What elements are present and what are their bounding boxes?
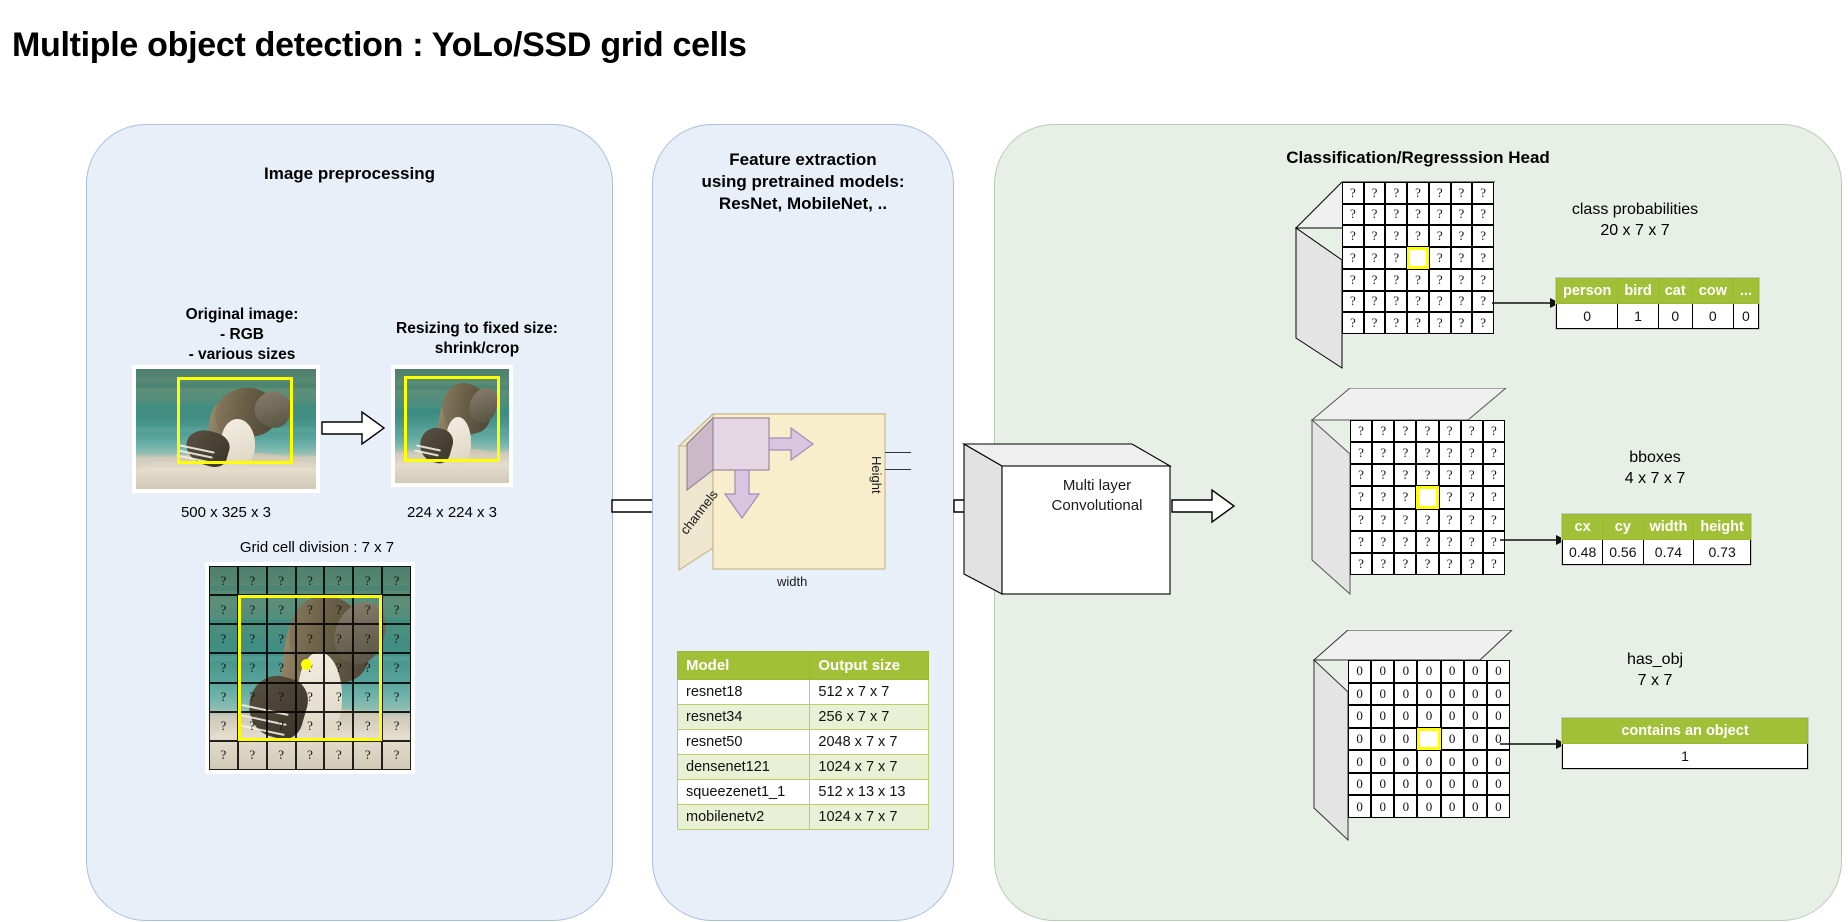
grid-cell: 0 [1371, 773, 1394, 796]
grid-cell: ? [1439, 486, 1461, 508]
grid-cell: 0 [1348, 660, 1371, 683]
center-point-marker [301, 659, 312, 670]
grid-cell-highlighted: ? [1407, 247, 1429, 269]
grid-cell: ? [382, 741, 411, 770]
table-row: resnet502048 x 7 x 7 [678, 730, 929, 755]
bounding-box-resized [404, 376, 500, 463]
grid-cell-highlighted: 0 [1417, 728, 1440, 751]
grid-cell: ? [1461, 442, 1483, 464]
grid-cell: ? [209, 653, 238, 682]
cell-model-name: resnet18 [678, 680, 810, 705]
grid-cell: 0 [1441, 773, 1464, 796]
grid-cell: ? [1439, 420, 1461, 442]
grid-cell: 0 [1441, 728, 1464, 751]
grid-cell: ? [1385, 204, 1407, 226]
grid-cell: ? [1385, 291, 1407, 313]
original-image-caption: Original image: - RGB - various sizes [137, 305, 347, 365]
grid-cell: ? [296, 566, 325, 595]
feature-map-cube: Height width channels [673, 398, 913, 608]
column-header: cx [1563, 515, 1603, 540]
grid-cell: 0 [1441, 750, 1464, 773]
grid-cell: ? [238, 741, 267, 770]
panel-title-preprocessing: Image preprocessing [87, 163, 612, 185]
grid-cell: 0 [1487, 750, 1510, 773]
grid-cell: ? [382, 566, 411, 595]
grid-cell: ? [209, 624, 238, 653]
grid-cell: ? [1461, 464, 1483, 486]
value-cell: 0.74 [1643, 540, 1694, 565]
table-row: densenet1211024 x 7 x 7 [678, 755, 929, 780]
arrow-resize [322, 410, 386, 446]
grid-cell: ? [1416, 464, 1438, 486]
grid-cell: ? [1451, 269, 1473, 291]
grid-cell: 0 [1371, 705, 1394, 728]
cell-output-size: 256 x 7 x 7 [810, 705, 929, 730]
grid-cell: ? [1372, 509, 1394, 531]
cube-label-width: width [777, 574, 807, 589]
grid-cell: ? [1439, 531, 1461, 553]
grid-cell: ? [1429, 225, 1451, 247]
cube-label-height: Height [869, 456, 884, 494]
grid-cell: ? [1385, 269, 1407, 291]
panel-title-head: Classification/Regresssion Head [995, 147, 1841, 169]
class-probabilities-table: personbirdcatcow... 01000 [1556, 278, 1759, 329]
grid-cell: ? [1461, 486, 1483, 508]
grid-cell: 0 [1464, 683, 1487, 706]
grid-cell: 0 [1394, 773, 1417, 796]
grid-cell: ? [1372, 420, 1394, 442]
grid-cell: ? [1342, 182, 1364, 204]
table-header-row: personbirdcatcow... [1557, 279, 1759, 304]
grid-cell: 0 [1487, 705, 1510, 728]
grid-cell: ? [382, 595, 411, 624]
table-row: resnet34256 x 7 x 7 [678, 705, 929, 730]
grid-cell: ? [1461, 509, 1483, 531]
grid-cell: 0 [1371, 728, 1394, 751]
grid-cell: ? [1350, 420, 1372, 442]
grid-cell: ? [324, 741, 353, 770]
table-value-row: 1 [1563, 744, 1808, 769]
grid-cell: 0 [1348, 705, 1371, 728]
grid-cell: ? [1429, 291, 1451, 313]
grid-cell: ? [382, 712, 411, 741]
grid-cell: 0 [1348, 773, 1371, 796]
grid-cell: 0 [1464, 750, 1487, 773]
original-image [132, 365, 320, 493]
grid-cell: ? [1350, 531, 1372, 553]
grid-cell: 0 [1417, 795, 1440, 818]
grid-cell: ? [1472, 247, 1494, 269]
grid-cell: 0 [1417, 660, 1440, 683]
grid-cell: ? [1385, 182, 1407, 204]
label-class-probabilities: class probabilities 20 x 7 x 7 [1520, 200, 1750, 242]
grid-cell: ? [1483, 442, 1505, 464]
model-output-size-table: Model Output size resnet18512 x 7 x 7res… [677, 651, 929, 830]
grid-cell: 0 [1394, 750, 1417, 773]
grid-division-caption: Grid cell division : 7 x 7 [197, 538, 437, 558]
grid-cell: ? [1416, 442, 1438, 464]
table-row: squeezenet1_1512 x 13 x 13 [678, 780, 929, 805]
cell-model-name: densenet121 [678, 755, 810, 780]
panel-title-feature: Feature extraction using pretrained mode… [653, 149, 953, 214]
grid-cell: ? [1451, 204, 1473, 226]
value-cell: 0 [1692, 304, 1733, 329]
grid-cell: ? [296, 741, 325, 770]
grid-cell: ? [1483, 464, 1505, 486]
grid-cell: 0 [1441, 683, 1464, 706]
grid-cell: ? [1472, 204, 1494, 226]
original-size-caption: 500 x 325 x 3 [132, 503, 320, 523]
grid-cell: ? [1483, 553, 1505, 575]
grid-cell: 0 [1394, 660, 1417, 683]
grid-cell: ? [1372, 531, 1394, 553]
column-header: cat [1658, 279, 1692, 304]
grid-cell: ? [1350, 509, 1372, 531]
table-row: resnet18512 x 7 x 7 [678, 680, 929, 705]
grid-cell: ? [1342, 269, 1364, 291]
page-title: Multiple object detection : YoLo/SSD gri… [12, 26, 747, 65]
grid-cell: ? [1385, 247, 1407, 269]
grid-cell: ? [1416, 531, 1438, 553]
grid-cell: ? [1350, 464, 1372, 486]
height-tick-marker [885, 452, 911, 470]
table-value-row: 0.480.560.740.73 [1563, 540, 1751, 565]
grid-cell: ? [1429, 312, 1451, 334]
label-bboxes: bboxes 4 x 7 x 7 [1560, 448, 1750, 490]
grid-cell: 0 [1464, 705, 1487, 728]
grid-cell: 0 [1371, 683, 1394, 706]
grid-cell: ? [1342, 225, 1364, 247]
arrow-hasobj-to-table [1500, 738, 1566, 750]
grid-cell: ? [1461, 531, 1483, 553]
grid-cell: ? [1472, 312, 1494, 334]
grid-cell: ? [1407, 225, 1429, 247]
grid-cell: ? [1407, 182, 1429, 204]
grid-cell: ? [1350, 442, 1372, 464]
grid-cell: 0 [1487, 683, 1510, 706]
table-header-row: contains an object [1563, 719, 1808, 744]
grid-cell: ? [1394, 509, 1416, 531]
grid-cell: ? [1451, 182, 1473, 204]
grid-cell: ? [267, 566, 296, 595]
grid-cell: ? [1451, 291, 1473, 313]
grid-cell: ? [1372, 553, 1394, 575]
grid-cell: 0 [1487, 795, 1510, 818]
grid-cell: ? [1451, 247, 1473, 269]
grid-cell: 0 [1487, 660, 1510, 683]
grid-cell: ? [238, 566, 267, 595]
conv-block-label: Multi layer Convolutional [1002, 476, 1192, 517]
value-cell: 0.73 [1694, 540, 1751, 565]
grid-cell: 0 [1464, 773, 1487, 796]
column-header: cy [1603, 515, 1643, 540]
value-cell: 0.56 [1603, 540, 1643, 565]
grid-cell: 0 [1371, 660, 1394, 683]
grid-cell: ? [1416, 509, 1438, 531]
grid-cell: ? [1451, 312, 1473, 334]
grid-cell: ? [1394, 531, 1416, 553]
grid-cell: ? [1394, 420, 1416, 442]
grid-cell: ? [209, 595, 238, 624]
grid-cell: ? [1407, 291, 1429, 313]
has-obj-table: contains an object 1 [1562, 718, 1808, 769]
grid-cell: ? [1342, 291, 1364, 313]
grid-cell: ? [1483, 509, 1505, 531]
column-header: height [1694, 515, 1751, 540]
grid-cell: ? [1394, 553, 1416, 575]
grid-cell: ? [1364, 312, 1386, 334]
grid-cell: ? [1364, 291, 1386, 313]
grid-cell: 0 [1441, 705, 1464, 728]
grid-cell: ? [1350, 553, 1372, 575]
grid-cell: ? [1461, 553, 1483, 575]
grid-cell: ? [1407, 269, 1429, 291]
cell-model-name: resnet34 [678, 705, 810, 730]
grid-cell: ? [353, 566, 382, 595]
grid-cell: ? [209, 683, 238, 712]
grid-cell: ? [1372, 486, 1394, 508]
column-header: ... [1733, 279, 1758, 304]
grid-cell: ? [324, 566, 353, 595]
grid-cell: 0 [1394, 728, 1417, 751]
grid-cell: ? [1416, 553, 1438, 575]
class-probabilities-grid: ????????????????????????????????????????… [1342, 182, 1494, 334]
column-header: bird [1618, 279, 1658, 304]
grid-cell: 0 [1417, 705, 1440, 728]
grid-cell: 0 [1487, 773, 1510, 796]
table-header-row: cxcywidthheight [1563, 515, 1751, 540]
grid-cell: 0 [1348, 795, 1371, 818]
grid-cell: ? [1407, 204, 1429, 226]
grid-cell: 0 [1464, 660, 1487, 683]
label-has-obj: has_obj 7 x 7 [1560, 650, 1750, 692]
grid-cell: ? [382, 624, 411, 653]
grid-cell: ? [1342, 204, 1364, 226]
grid-cell: ? [1364, 247, 1386, 269]
grid-cell: ? [1364, 182, 1386, 204]
grid-cell: 0 [1371, 795, 1394, 818]
table-row: mobilenetv21024 x 7 x 7 [678, 805, 929, 830]
column-header: cow [1692, 279, 1733, 304]
grid-cell: ? [382, 653, 411, 682]
grid-cell: ? [382, 683, 411, 712]
grid-image: ????????????????????????????????????????… [205, 562, 415, 774]
column-header: width [1643, 515, 1694, 540]
grid-cell: ? [1429, 247, 1451, 269]
grid-cell: ? [1394, 486, 1416, 508]
grid-cell: ? [1461, 420, 1483, 442]
grid-cell: ? [267, 741, 296, 770]
grid-cell: ? [209, 712, 238, 741]
cell-model-name: mobilenetv2 [678, 805, 810, 830]
grid-cell: 0 [1417, 683, 1440, 706]
grid-cell-highlighted: ? [1416, 486, 1438, 508]
grid-cell: ? [1439, 553, 1461, 575]
value-cell: 0 [1658, 304, 1692, 329]
grid-cell: ? [1364, 204, 1386, 226]
grid-cell: ? [1364, 269, 1386, 291]
grid-cell: ? [1364, 225, 1386, 247]
grid-cell: ? [1416, 420, 1438, 442]
grid-cell: ? [1342, 312, 1364, 334]
grid-cell: 0 [1417, 773, 1440, 796]
column-header-model: Model [678, 652, 810, 680]
bounding-box-original [177, 377, 292, 463]
has-obj-grid: 0000000000000000000000000000000000000000… [1348, 660, 1510, 818]
grid-cell: ? [1394, 442, 1416, 464]
value-cell: 1 [1618, 304, 1658, 329]
cell-output-size: 512 x 7 x 7 [810, 680, 929, 705]
grid-cell: 0 [1394, 683, 1417, 706]
grid-cell: ? [1472, 182, 1494, 204]
grid-cell: 0 [1394, 705, 1417, 728]
panel-image-preprocessing: Image preprocessing Original image: - RG… [86, 124, 613, 921]
grid-cell: 0 [1441, 795, 1464, 818]
grid-cell: ? [1439, 442, 1461, 464]
value-cell: 1 [1563, 744, 1808, 769]
column-header: contains an object [1563, 719, 1808, 744]
grid-cell: ? [1385, 225, 1407, 247]
grid-cell: ? [1385, 312, 1407, 334]
resized-image [391, 365, 513, 487]
grid-cell: 0 [1464, 795, 1487, 818]
grid-cell: 0 [1394, 795, 1417, 818]
grid-cell: ? [209, 741, 238, 770]
bboxes-table: cxcywidthheight 0.480.560.740.73 [1562, 514, 1751, 565]
table-header-row: Model Output size [678, 652, 929, 680]
resize-caption: Resizing to fixed size: shrink/crop [367, 319, 587, 359]
grid-cell: 0 [1417, 750, 1440, 773]
grid-cell: ? [1439, 509, 1461, 531]
grid-cell: ? [1429, 269, 1451, 291]
grid-cell: 0 [1348, 750, 1371, 773]
grid-cell: ? [1429, 204, 1451, 226]
cell-output-size: 2048 x 7 x 7 [810, 730, 929, 755]
value-cell: 0.48 [1563, 540, 1603, 565]
cell-model-name: resnet50 [678, 730, 810, 755]
grid-cell: ? [1483, 420, 1505, 442]
grid-cell: ? [1483, 486, 1505, 508]
grid-cell: ? [209, 566, 238, 595]
cell-model-name: squeezenet1_1 [678, 780, 810, 805]
grid-cell: ? [1472, 291, 1494, 313]
grid-cell: ? [1394, 464, 1416, 486]
grid-cell: ? [1472, 225, 1494, 247]
grid-cell: ? [1342, 247, 1364, 269]
grid-cell: 0 [1464, 728, 1487, 751]
grid-cell: ? [1350, 486, 1372, 508]
grid-cell: ? [1439, 464, 1461, 486]
table-value-row: 01000 [1557, 304, 1759, 329]
grid-cell: ? [1429, 182, 1451, 204]
value-cell: 0 [1557, 304, 1618, 329]
cell-output-size: 512 x 13 x 13 [810, 780, 929, 805]
column-header: person [1557, 279, 1618, 304]
grid-cell: ? [1372, 442, 1394, 464]
arrow-bbox-to-table [1500, 534, 1566, 546]
resized-size-caption: 224 x 224 x 3 [387, 503, 517, 523]
column-header-output-size: Output size [810, 652, 929, 680]
grid-cell: 0 [1348, 728, 1371, 751]
cell-output-size: 1024 x 7 x 7 [810, 755, 929, 780]
bboxes-grid: ????????????????????????????????????????… [1350, 420, 1505, 575]
grid-cell: 0 [1371, 750, 1394, 773]
grid-cell: ? [1451, 225, 1473, 247]
grid-cell: ? [1372, 464, 1394, 486]
cell-output-size: 1024 x 7 x 7 [810, 805, 929, 830]
grid-cell: 0 [1348, 683, 1371, 706]
grid-cell: ? [1407, 312, 1429, 334]
grid-cell: 0 [1441, 660, 1464, 683]
grid-cell: ? [1472, 269, 1494, 291]
grid-cell: ? [353, 741, 382, 770]
value-cell: 0 [1733, 304, 1758, 329]
arrow-conv-to-outputs [1172, 488, 1236, 524]
arrow-class-to-table [1492, 297, 1560, 309]
